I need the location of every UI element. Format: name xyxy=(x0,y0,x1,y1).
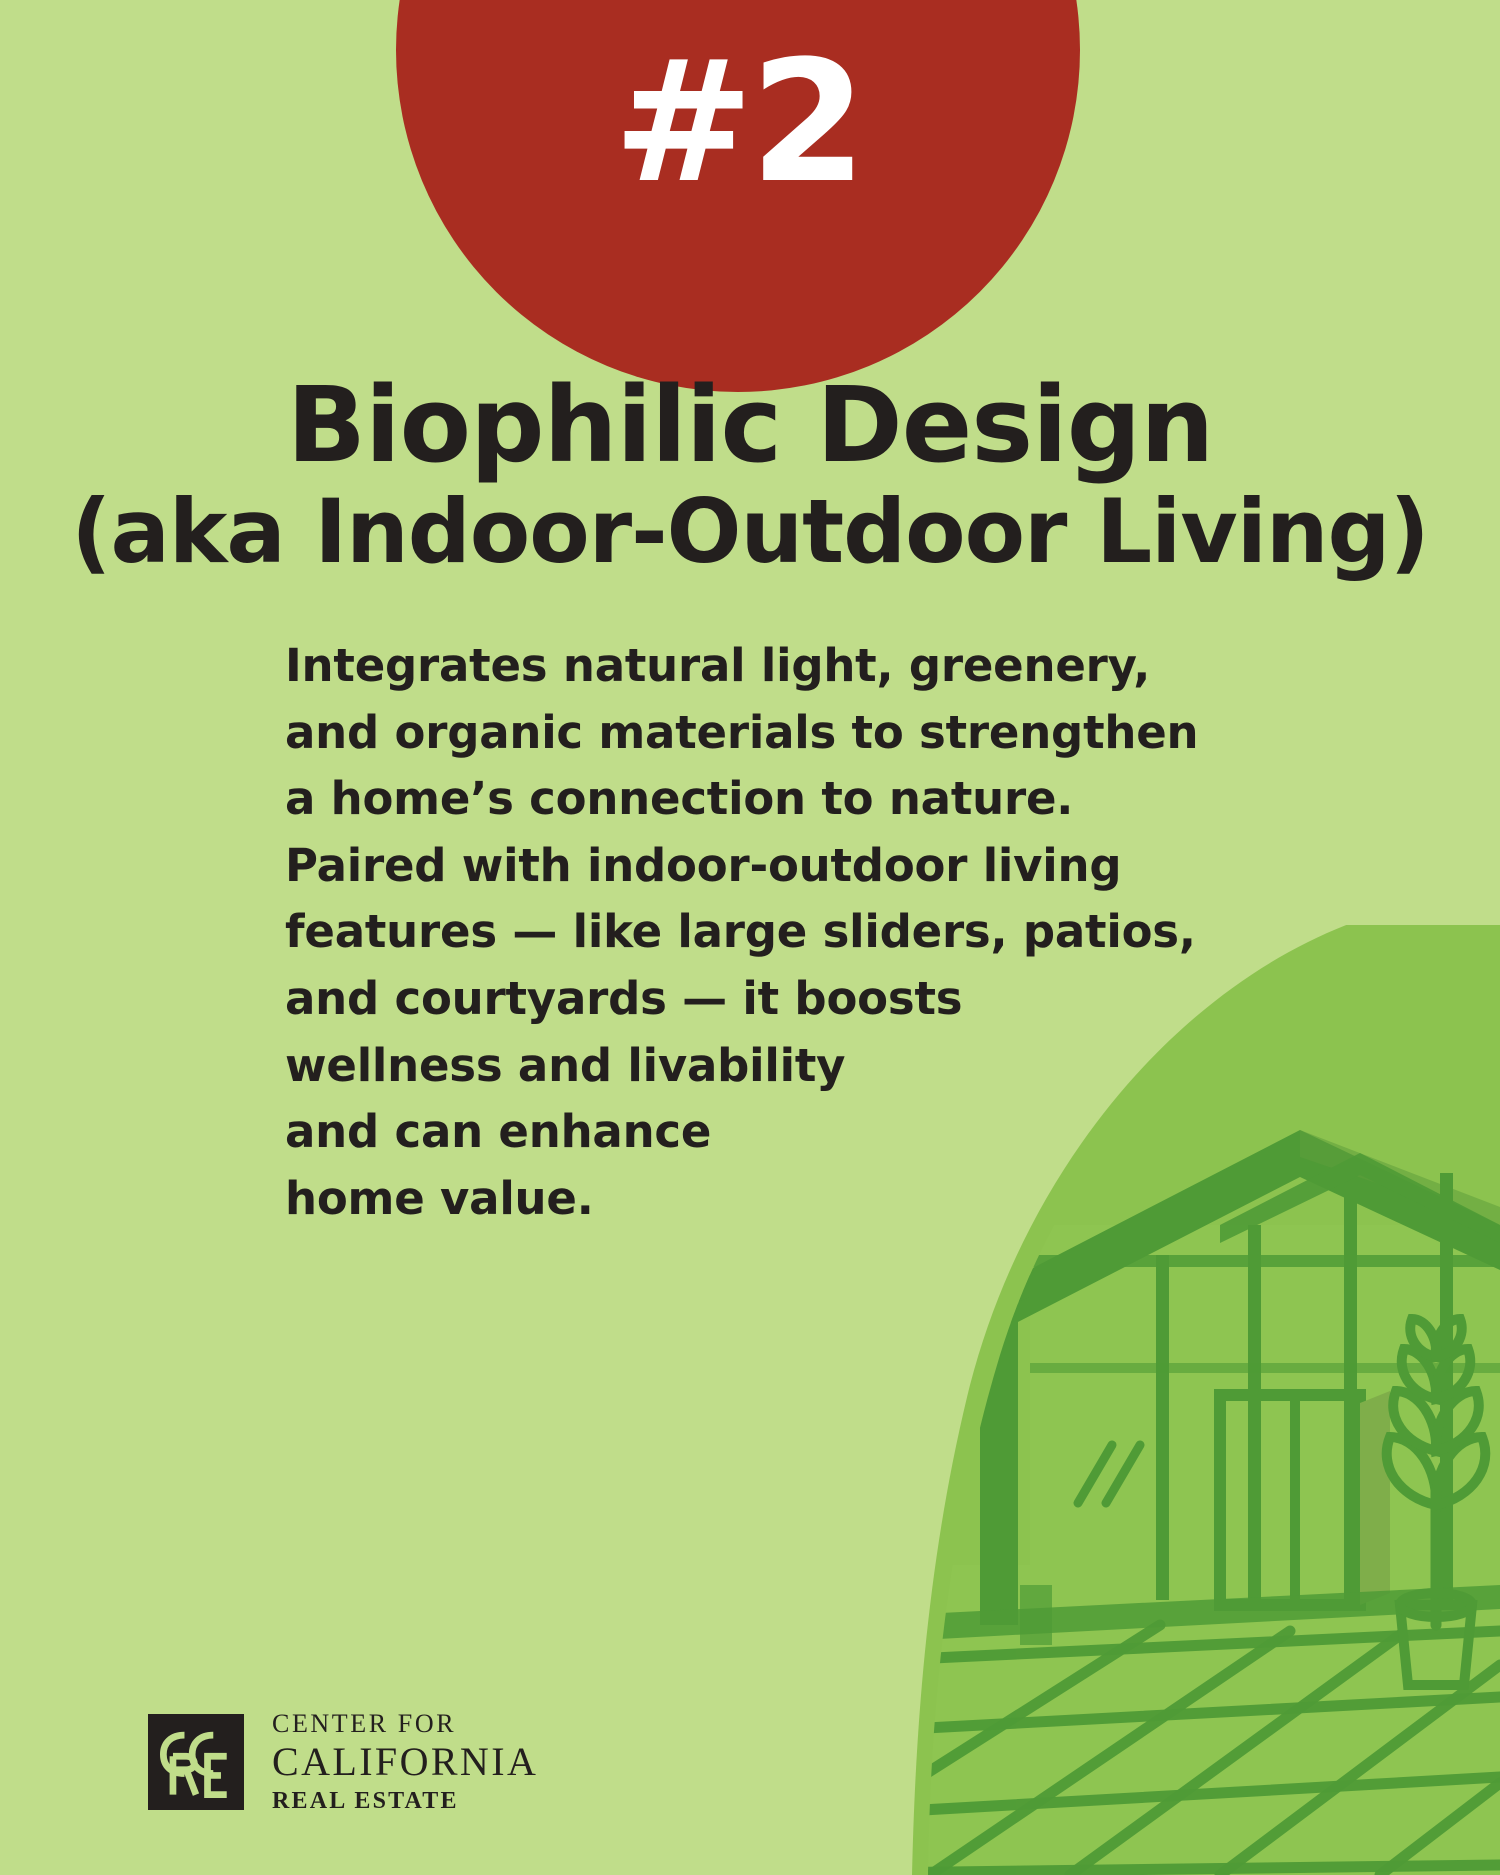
title-block: Biophilic Design (aka Indoor-Outdoor Liv… xyxy=(0,370,1500,581)
ccre-monogram-icon xyxy=(148,1714,244,1810)
body-line: and can enhance xyxy=(285,1099,1265,1166)
potted-plant xyxy=(1387,1319,1486,1685)
body-line: a home’s connection to nature. xyxy=(285,766,1265,833)
body-line: home value. xyxy=(285,1166,1265,1233)
content-area: Biophilic Design (aka Indoor-Outdoor Liv… xyxy=(0,0,1500,1232)
body-line: and courtyards — it boosts xyxy=(285,966,1265,1033)
body-line: wellness and livability xyxy=(285,1033,1265,1100)
logo-wordmark: CENTER FOR CALIFORNIA REAL ESTATE xyxy=(272,1711,538,1813)
body-line: and organic materials to strengthen xyxy=(285,700,1265,767)
page-subtitle: (aka Indoor-Outdoor Living) xyxy=(0,484,1500,581)
body-line: Integrates natural light, greenery, xyxy=(285,633,1265,700)
body-line: features — like large sliders, patios, xyxy=(285,899,1265,966)
ccre-logo: CENTER FOR CALIFORNIA REAL ESTATE xyxy=(148,1711,538,1813)
logo-line-center-for: CENTER FOR xyxy=(272,1711,538,1737)
infographic-card: #2 Biophilic Design (aka Indoor-Outdoor … xyxy=(0,0,1500,1875)
logo-line-california: CALIFORNIA xyxy=(272,1742,538,1782)
body-paragraph: Integrates natural light, greenery, and … xyxy=(285,633,1265,1232)
page-title: Biophilic Design xyxy=(0,370,1500,480)
logo-line-real-estate: REAL ESTATE xyxy=(272,1789,538,1813)
body-line: Paired with indoor-outdoor living xyxy=(285,833,1265,900)
